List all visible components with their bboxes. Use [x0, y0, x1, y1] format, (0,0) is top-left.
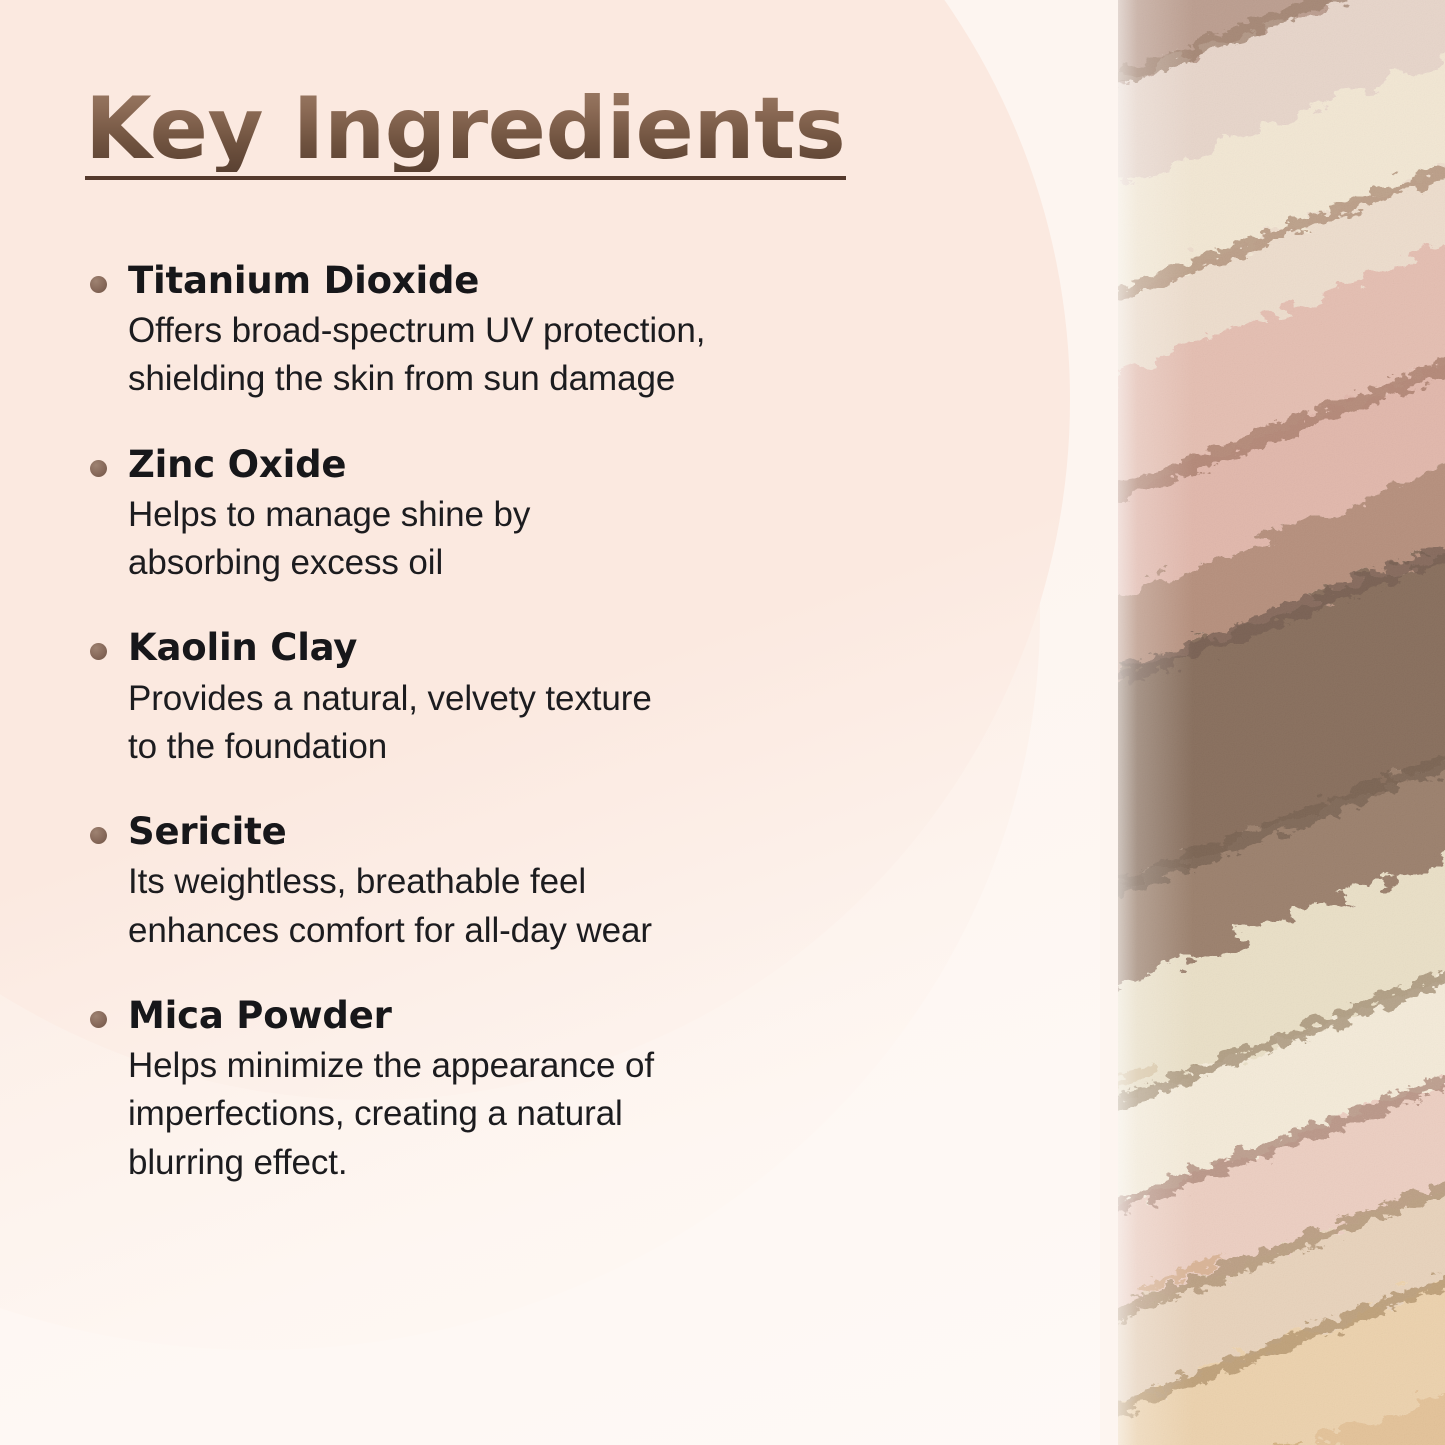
ingredient-description: Its weightless, breathable feel enhances…	[128, 858, 968, 955]
ingredient-description: Helps to manage shine by absorbing exces…	[128, 491, 968, 588]
list-item: Kaolin Clay Provides a natural, velvety …	[88, 625, 968, 771]
key-ingredients-infographic: Key Ingredients Titanium Dioxide Offers …	[0, 0, 1445, 1445]
ingredient-name: Sericite	[128, 809, 968, 854]
ingredient-description: Helps minimize the appearance of imperfe…	[128, 1042, 968, 1187]
ingredient-description: Offers broad-spectrum UV protection, shi…	[128, 307, 968, 404]
list-item: Sericite Its weightless, breathable feel…	[88, 809, 968, 955]
powder-swatch-image	[1100, 0, 1445, 1445]
bullet-dot-icon	[90, 827, 107, 844]
ingredient-name: Titanium Dioxide	[128, 258, 968, 303]
bullet-dot-icon	[90, 1011, 107, 1028]
list-item: Titanium Dioxide Offers broad-spectrum U…	[88, 258, 968, 404]
page-title-wrap: Key Ingredients	[85, 86, 875, 172]
ingredient-name: Mica Powder	[128, 993, 968, 1038]
ingredients-list: Titanium Dioxide Offers broad-spectrum U…	[88, 258, 968, 1225]
bullet-dot-icon	[90, 276, 107, 293]
list-item: Zinc Oxide Helps to manage shine by abso…	[88, 442, 968, 588]
list-item: Mica Powder Helps minimize the appearanc…	[88, 993, 968, 1187]
bullet-dot-icon	[90, 460, 107, 477]
page-title-underline	[85, 176, 846, 180]
page-title: Key Ingredients	[85, 86, 845, 172]
ingredient-name: Kaolin Clay	[128, 625, 968, 670]
ingredient-name: Zinc Oxide	[128, 442, 968, 487]
content-column: Key Ingredients Titanium Dioxide Offers …	[0, 0, 1100, 1445]
bullet-dot-icon	[90, 643, 107, 660]
ingredient-description: Provides a natural, velvety texture to t…	[128, 675, 968, 772]
powder-swatch-graphic	[1100, 0, 1445, 1445]
